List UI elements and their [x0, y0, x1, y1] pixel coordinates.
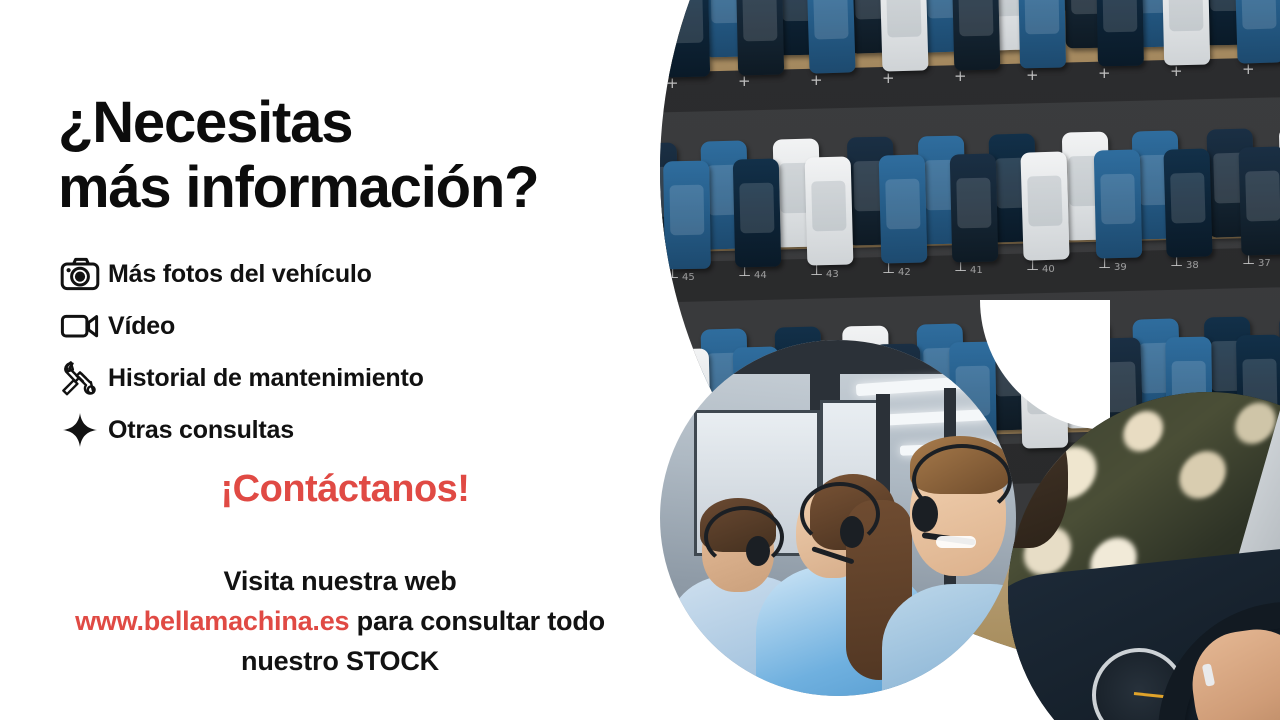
- website-url[interactable]: www.bellamachina.es: [75, 606, 349, 636]
- website-line-2: www.bellamachina.es para consultar todo: [0, 602, 680, 642]
- parked-car: [733, 158, 782, 267]
- poster-canvas: /* cars are drawn by the populate script…: [0, 0, 1280, 720]
- parked-car: [1162, 0, 1210, 65]
- lot-bay-number: 42: [898, 267, 911, 278]
- feature-item-photos: Más fotos del vehículo: [52, 248, 672, 300]
- page-title: ¿Necesitas más información?: [58, 91, 698, 221]
- video-icon: [52, 303, 108, 349]
- parked-car: [1021, 151, 1070, 260]
- lot-cross-marking: +: [1242, 62, 1255, 77]
- lot-cross-marking: +: [1098, 66, 1111, 81]
- parked-car: [879, 0, 928, 72]
- parked-car: [1163, 148, 1212, 257]
- feature-label: Más fotos del vehículo: [108, 260, 372, 289]
- parked-car: [1238, 146, 1280, 255]
- headset-earcup: [840, 516, 864, 548]
- headline-line-1: ¿Necesitas: [58, 91, 698, 156]
- driving-photo: [1008, 392, 1280, 720]
- parked-car: [805, 157, 854, 266]
- headset-earcup: [912, 496, 938, 532]
- lot-cross-marking: +: [954, 69, 967, 84]
- parked-car: [1096, 0, 1144, 67]
- feature-label: Otras consultas: [108, 416, 294, 445]
- parked-car: [879, 155, 928, 264]
- website-line-2-rest: para consultar todo: [349, 606, 605, 636]
- camera-icon: [52, 251, 108, 297]
- headset-earcup: [746, 536, 770, 566]
- website-line-3: nuestro STOCK: [0, 642, 680, 682]
- feature-item-other: Otras consultas: [52, 404, 672, 456]
- parked-car: [807, 0, 856, 74]
- call-center-artwork: [660, 340, 1016, 696]
- feature-label: Vídeo: [108, 312, 175, 341]
- lot-cross-marking: +: [810, 73, 823, 88]
- website-block: Visita nuestra web www.bellamachina.es p…: [0, 562, 680, 682]
- lot-bay-number: 41: [970, 265, 983, 276]
- feature-label: Historial de mantenimiento: [108, 364, 424, 393]
- driving-artwork: [1008, 392, 1280, 720]
- feature-list: Más fotos del vehículo Vídeo: [52, 248, 672, 456]
- agent-smile: [936, 536, 976, 548]
- headset-icon: [704, 506, 784, 568]
- parked-car: [1093, 150, 1142, 259]
- parked-car: [1018, 0, 1066, 69]
- sparkle-icon: [52, 407, 108, 453]
- lot-cross-marking: +: [1170, 64, 1183, 79]
- parked-car: [736, 0, 784, 75]
- lot-bay-number: 43: [826, 269, 839, 280]
- left-content-panel: ¿Necesitas más información? Más fotos de…: [0, 0, 690, 720]
- lot-bay-number: 37: [1258, 258, 1271, 269]
- parked-car: [950, 153, 999, 262]
- tools-icon: [52, 355, 108, 401]
- headline-line-2: más información?: [58, 156, 698, 221]
- contact-cta: ¡Contáctanos!: [0, 468, 690, 511]
- lot-bay-number: 39: [1114, 262, 1127, 273]
- lot-cross-marking: +: [738, 74, 751, 89]
- feature-item-maintenance: Historial de mantenimiento: [52, 352, 672, 404]
- lot-bay-number: 40: [1042, 264, 1055, 275]
- feature-item-video: Vídeo: [52, 300, 672, 352]
- parked-car: [952, 0, 1001, 70]
- lot-cross-marking: +: [1026, 68, 1039, 83]
- parked-car: [1235, 0, 1280, 64]
- call-center-photo: [660, 340, 1016, 696]
- lot-cross-marking: +: [882, 71, 895, 86]
- lot-bay-number: 38: [1186, 260, 1199, 271]
- website-line-1: Visita nuestra web: [0, 562, 680, 602]
- lot-bay-number: 44: [754, 270, 767, 281]
